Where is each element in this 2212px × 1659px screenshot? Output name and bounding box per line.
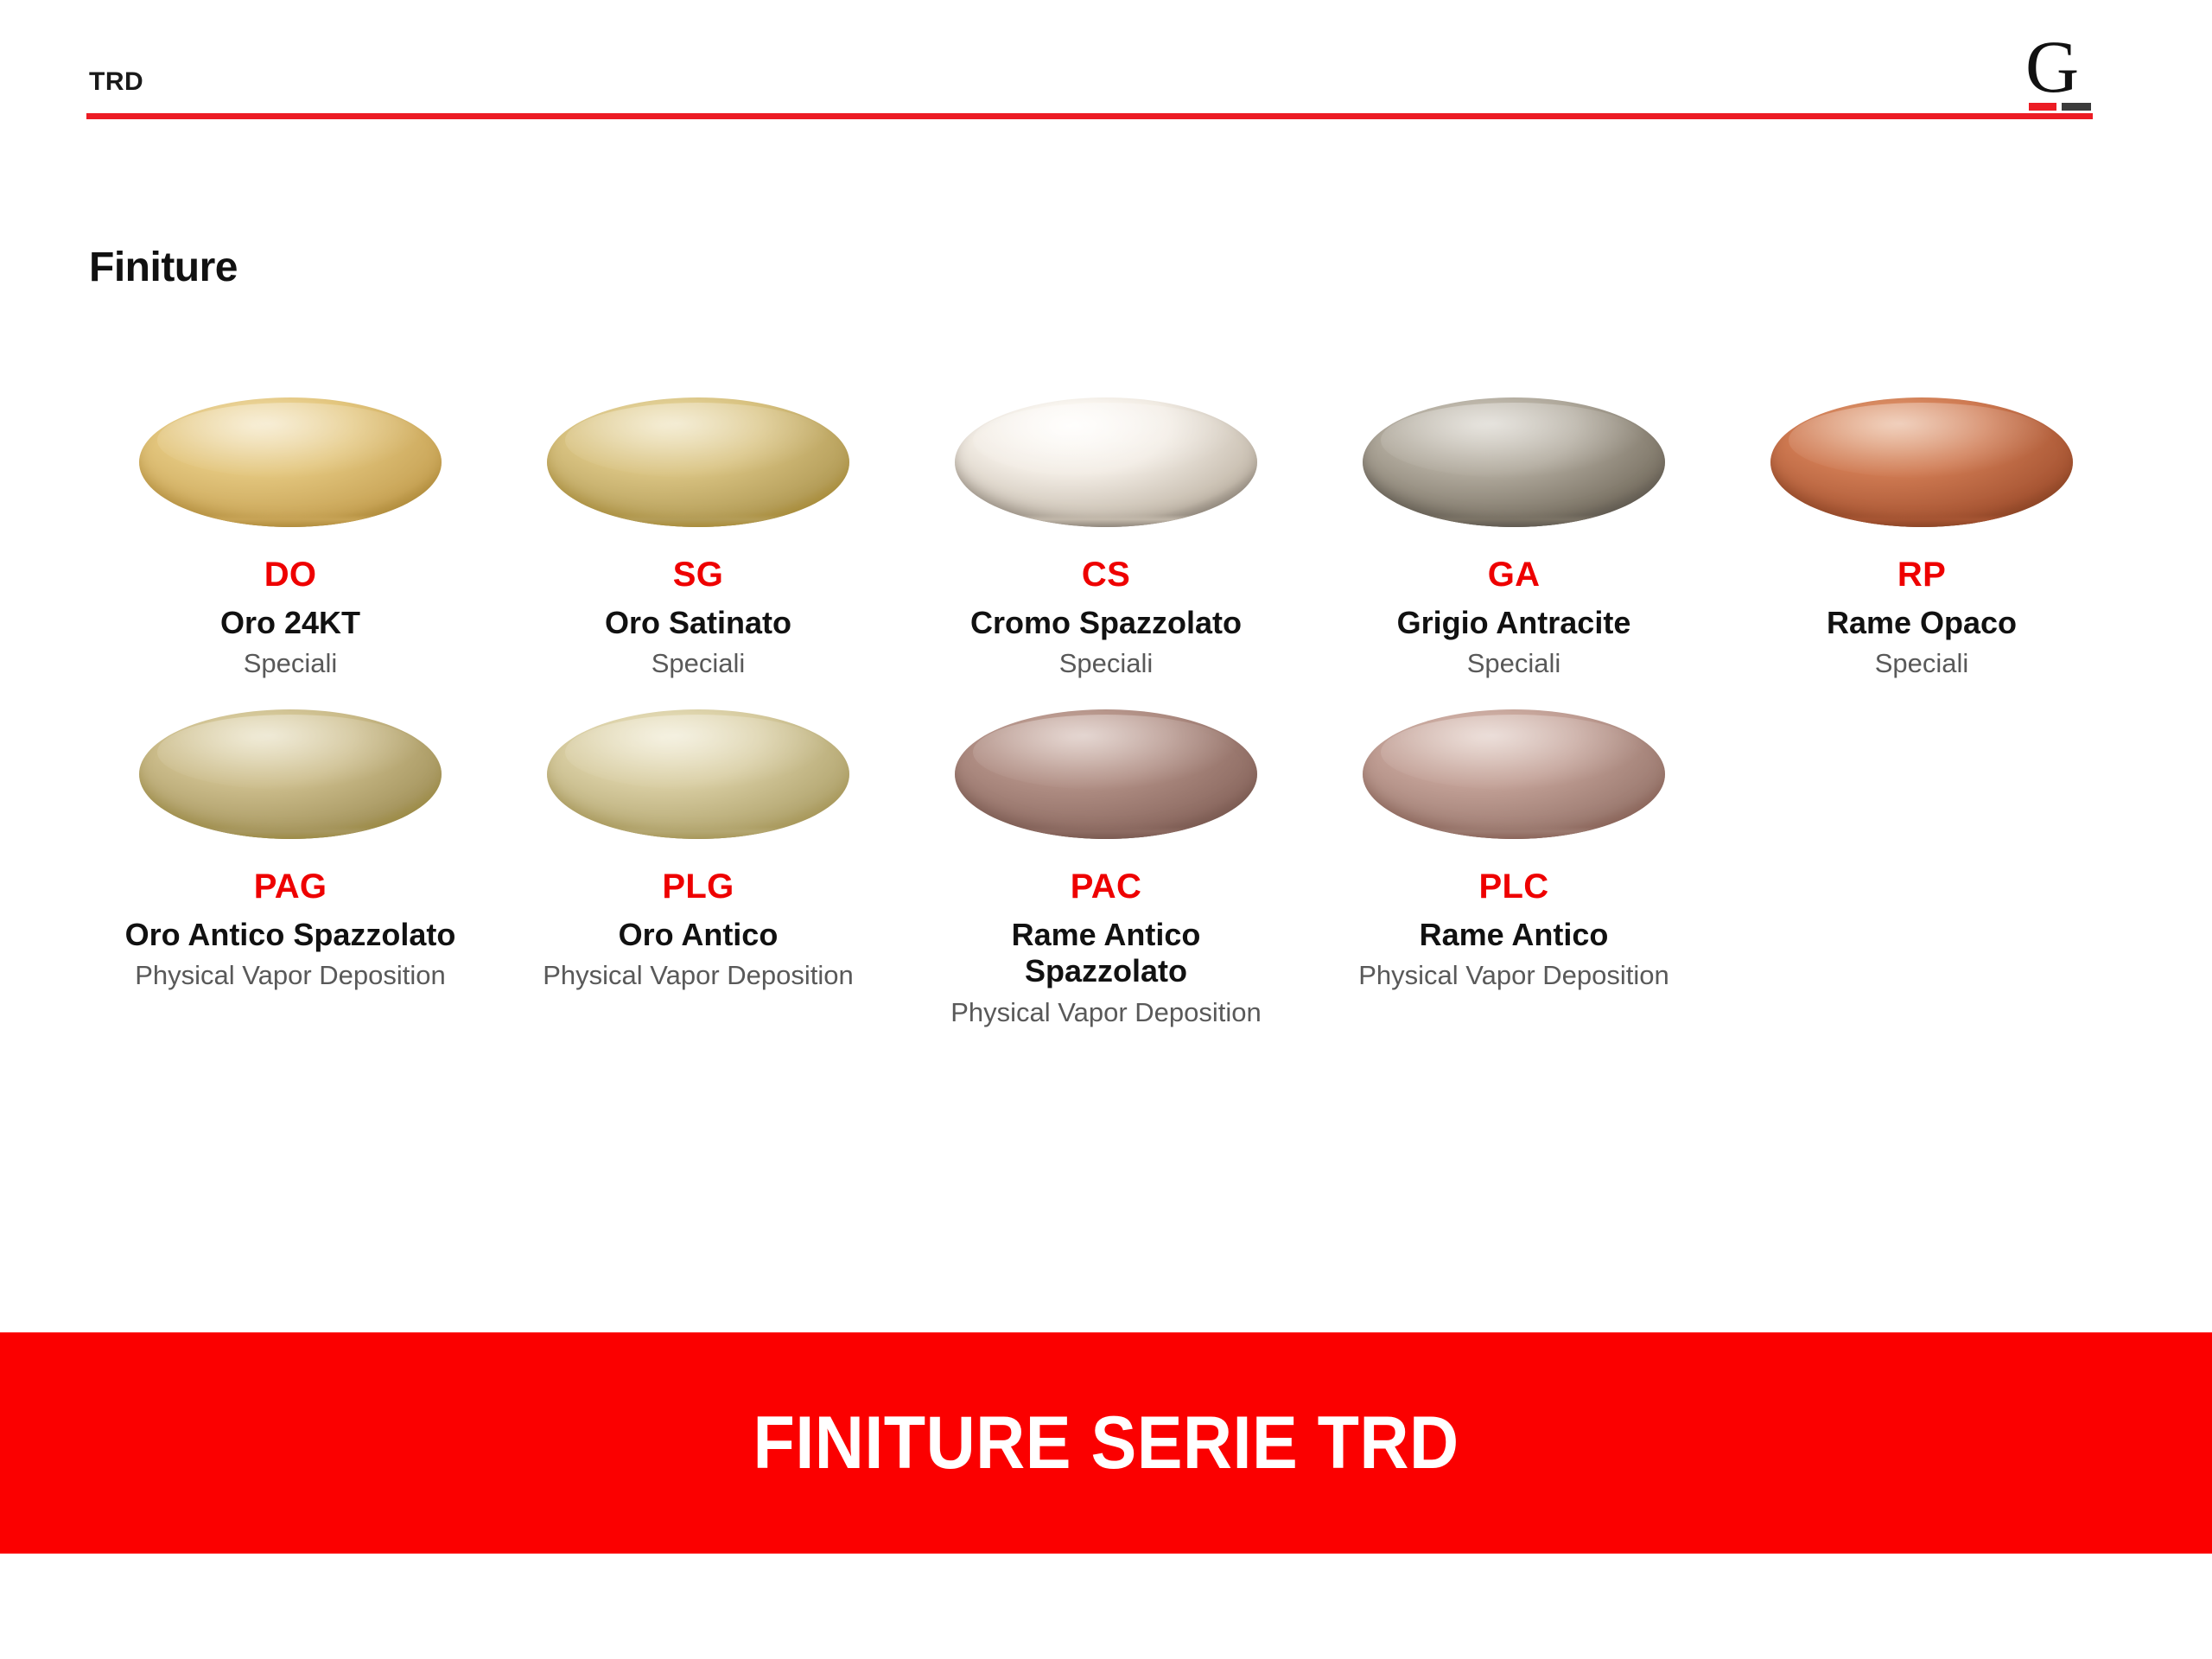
finish-name: Oro Antico bbox=[619, 917, 779, 953]
finish-card-plg[interactable]: PLG Oro Antico Physical Vapor Deposition bbox=[494, 701, 902, 991]
finish-code: PAG bbox=[254, 868, 327, 905]
finish-swatch-oro-satinato bbox=[543, 389, 854, 536]
finish-process: Physical Vapor Deposition bbox=[135, 960, 446, 990]
footer-banner-title: FINITURE SERIE TRD bbox=[753, 1401, 1459, 1486]
brand-g-icon: G bbox=[2025, 29, 2079, 104]
finish-name: Oro 24KT bbox=[220, 605, 360, 641]
finish-swatch-cromo-spazzolato bbox=[950, 389, 1262, 536]
finish-name: Cromo Spazzolato bbox=[970, 605, 1242, 641]
page-header: TRD G bbox=[0, 0, 2212, 130]
finish-card-do[interactable]: DO Oro 24KT Speciali bbox=[86, 389, 494, 679]
brand-logo: G bbox=[2025, 40, 2093, 114]
finish-process: Speciali bbox=[1467, 648, 1561, 678]
finish-process: Speciali bbox=[244, 648, 338, 678]
finish-code: DO bbox=[264, 556, 317, 593]
finish-swatch-grigio-antracite bbox=[1358, 389, 1669, 536]
finish-code: PAC bbox=[1071, 868, 1141, 905]
finish-code: GA bbox=[1488, 556, 1541, 593]
page-title: Finiture bbox=[89, 244, 238, 291]
logo-red-bar-icon bbox=[2029, 103, 2056, 111]
finish-name: Oro Antico Spazzolato bbox=[125, 917, 456, 953]
finishes-row-2: PAG Oro Antico Spazzolato Physical Vapor… bbox=[86, 701, 2126, 1027]
finish-name: Oro Satinato bbox=[605, 605, 791, 641]
finish-code: RP bbox=[1897, 556, 1946, 593]
finish-process: Physical Vapor Deposition bbox=[1358, 960, 1669, 990]
finish-name: Rame Antico bbox=[1420, 917, 1609, 953]
finishes-row-1: DO Oro 24KT Speciali SG Oro Satinato Spe… bbox=[86, 389, 2126, 679]
finish-process: Physical Vapor Deposition bbox=[950, 997, 1262, 1027]
finish-code: CS bbox=[1082, 556, 1130, 593]
finishes-grid: DO Oro 24KT Speciali SG Oro Satinato Spe… bbox=[86, 389, 2126, 1027]
finish-process: Speciali bbox=[1059, 648, 1154, 678]
finish-card-plc[interactable]: PLC Rame Antico Physical Vapor Depositio… bbox=[1310, 701, 1718, 991]
finish-code: PLG bbox=[662, 868, 734, 905]
finish-process: Speciali bbox=[1875, 648, 1969, 678]
logo-black-bar-icon bbox=[2062, 103, 2091, 111]
finish-code: PLC bbox=[1479, 868, 1549, 905]
finish-process: Speciali bbox=[652, 648, 746, 678]
finish-name: Grigio Antracite bbox=[1397, 605, 1631, 641]
finish-name: Rame Opaco bbox=[1827, 605, 2017, 641]
finish-card-rp[interactable]: RP Rame Opaco Speciali bbox=[1718, 389, 2126, 679]
finish-card-pag[interactable]: PAG Oro Antico Spazzolato Physical Vapor… bbox=[86, 701, 494, 991]
finish-swatch-oro-24kt bbox=[135, 389, 446, 536]
finish-name: Rame Antico Spazzolato bbox=[933, 917, 1279, 990]
finish-swatch-rame-antico-spazzolato bbox=[950, 701, 1262, 848]
finish-code: SG bbox=[673, 556, 723, 593]
finish-card-pac[interactable]: PAC Rame Antico Spazzolato Physical Vapo… bbox=[902, 701, 1310, 1027]
finish-card-sg[interactable]: SG Oro Satinato Speciali bbox=[494, 389, 902, 679]
finish-process: Physical Vapor Deposition bbox=[543, 960, 854, 990]
finish-swatch-oro-antico-spazzolato bbox=[135, 701, 446, 848]
finish-card-cs[interactable]: CS Cromo Spazzolato Speciali bbox=[902, 389, 1310, 679]
series-code-label: TRD bbox=[89, 67, 143, 97]
footer-banner: FINITURE SERIE TRD bbox=[0, 1332, 2212, 1554]
header-divider-rule bbox=[86, 113, 2093, 119]
finish-swatch-oro-antico bbox=[543, 701, 854, 848]
finish-swatch-rame-opaco bbox=[1766, 389, 2077, 536]
finish-card-ga[interactable]: GA Grigio Antracite Speciali bbox=[1310, 389, 1718, 679]
finish-swatch-rame-antico bbox=[1358, 701, 1669, 848]
